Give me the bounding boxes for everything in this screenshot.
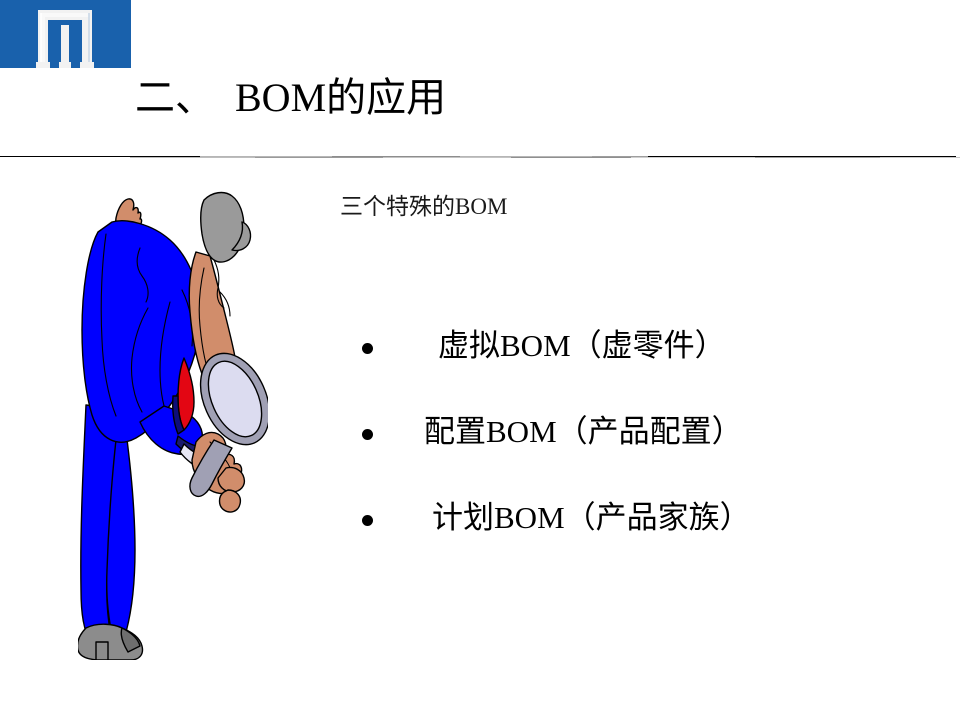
- list-item-label: 配置BOM（产品配置）: [424, 412, 743, 452]
- header-divider: [0, 156, 960, 158]
- institution-logo: [0, 0, 131, 68]
- list-item[interactable]: 虚拟BOM（虚零件）: [352, 326, 912, 412]
- bullet-dot-icon: [362, 515, 373, 526]
- bullet-list: 虚拟BOM（虚零件） 配置BOM（产品配置） 计划BOM（产品家族）: [352, 326, 912, 584]
- temple-gate-columns-icon: [34, 7, 96, 68]
- bullet-dot-icon: [362, 343, 373, 354]
- slide-canvas: 二、 BOM的应用 三个特殊的BOM 虚拟BOM（虚零件） 配置BOM（产品配置…: [0, 0, 960, 720]
- page-title: 二、 BOM的应用: [135, 74, 446, 122]
- list-item-label: 虚拟BOM（虚零件）: [438, 326, 726, 366]
- man-with-magnifying-glass-illustration: [78, 190, 268, 660]
- subtitle: 三个特殊的BOM: [340, 192, 507, 222]
- list-item[interactable]: 计划BOM（产品家族）: [352, 498, 912, 584]
- list-item[interactable]: 配置BOM（产品配置）: [352, 412, 912, 498]
- list-item-label: 计划BOM（产品家族）: [432, 498, 751, 538]
- bullet-dot-icon: [362, 429, 373, 440]
